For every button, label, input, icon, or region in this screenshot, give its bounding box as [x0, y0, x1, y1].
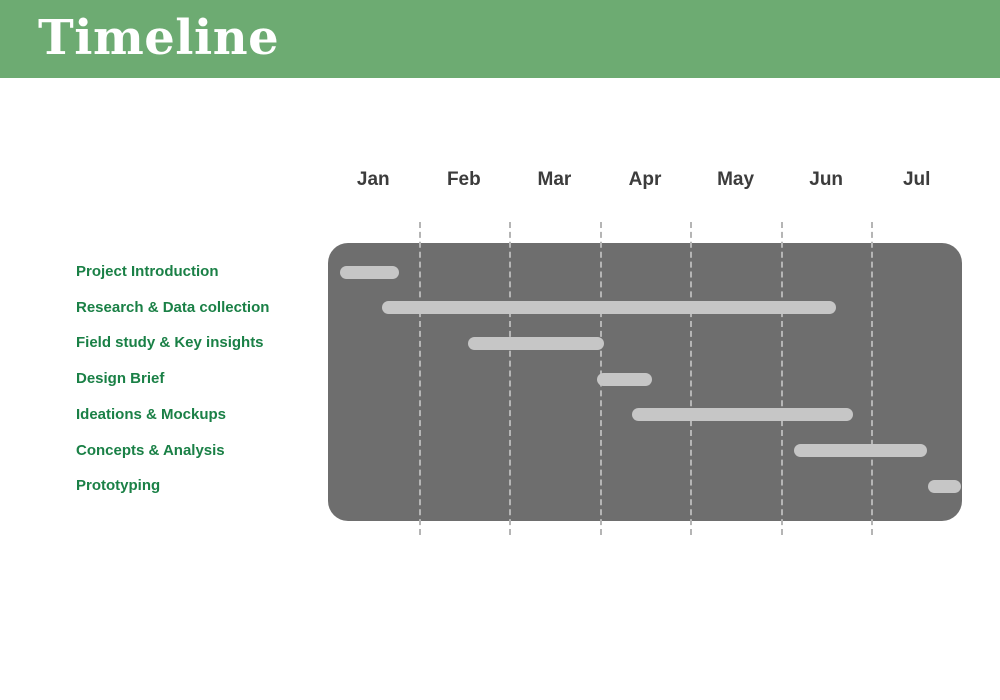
task-label-prototyping: Prototyping — [76, 476, 316, 496]
gantt-bar-prototyping[interactable] — [928, 480, 962, 493]
page-title: Timeline — [38, 6, 279, 70]
task-label-field-study-key-insights: Field study & Key insights — [76, 333, 316, 353]
gantt-bar-project-introduction[interactable] — [340, 266, 399, 279]
task-label-design-brief: Design Brief — [76, 369, 316, 389]
task-label-concepts-analysis: Concepts & Analysis — [76, 441, 316, 461]
month-label-may: May — [692, 168, 780, 192]
gantt-bar-concepts-analysis[interactable] — [794, 444, 927, 457]
month-label-jan: Jan — [329, 168, 417, 192]
gantt-bar-design-brief[interactable] — [597, 373, 652, 386]
month-label-apr: Apr — [601, 168, 689, 192]
task-label-project-introduction: Project Introduction — [76, 262, 316, 282]
gantt-chart: JanFebMarAprMayJunJul Project Introducti… — [0, 78, 1000, 700]
gantt-bar-ideations-mockups[interactable] — [632, 408, 853, 421]
month-label-jun: Jun — [782, 168, 870, 192]
task-label-research-data-collection: Research & Data collection — [76, 298, 316, 318]
header-band: Timeline — [0, 0, 1000, 78]
gantt-bar-field-study-key-insights[interactable] — [468, 337, 604, 350]
month-label-jul: Jul — [873, 168, 961, 192]
month-label-mar: Mar — [510, 168, 598, 192]
task-label-ideations-mockups: Ideations & Mockups — [76, 405, 316, 425]
gantt-bar-research-data-collection[interactable] — [382, 301, 836, 314]
month-label-feb: Feb — [420, 168, 508, 192]
